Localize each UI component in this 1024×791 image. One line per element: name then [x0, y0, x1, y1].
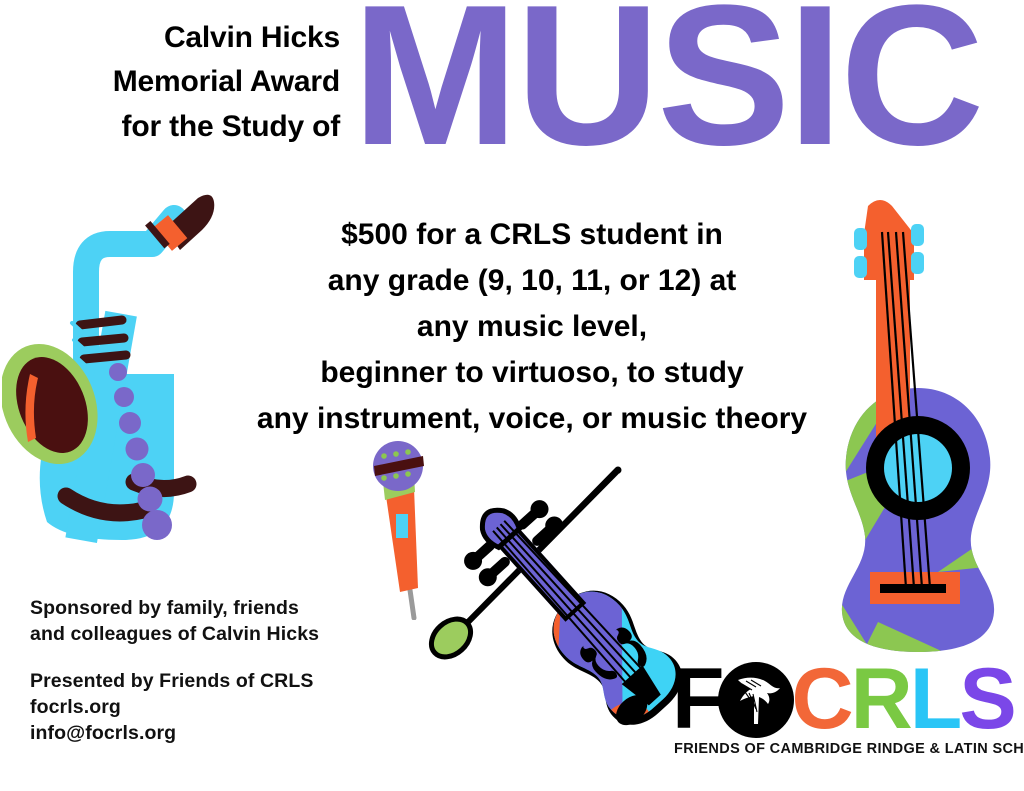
description-line-2: any grade (9, 10, 11, or 12) at [182, 258, 882, 304]
logo-letter-l: L [910, 662, 960, 738]
sponsor-contact-block: Sponsored by family, friends and colleag… [30, 596, 319, 747]
description-line-1: $500 for a CRLS student in [182, 212, 882, 258]
poster-canvas: Calvin Hicks Memorial Award for the Stud… [0, 0, 1024, 791]
logo-letter-o-falcon-icon [718, 662, 794, 738]
website-link[interactable]: focrls.org [30, 695, 319, 721]
award-title-line-1: Calvin Hicks [18, 16, 340, 60]
sponsor-line-2: and colleagues of Calvin Hicks [30, 622, 319, 648]
award-description: $500 for a CRLS student in any grade (9,… [182, 212, 882, 441]
logo-letter-r: R [851, 662, 910, 738]
sponsor-spacer [30, 648, 319, 669]
description-line-3: any music level, [182, 304, 882, 350]
award-title-line-2: Memorial Award [18, 60, 340, 104]
award-title: Calvin Hicks Memorial Award for the Stud… [18, 16, 340, 149]
presented-by-line: Presented by Friends of CRLS [30, 669, 319, 695]
logo-letter-s: S [959, 662, 1013, 738]
description-line-5: any instrument, voice, or music theory [182, 396, 882, 442]
logo-tagline: FRIENDS OF CAMBRIDGE RINDGE & LATIN SCHO… [674, 741, 1024, 757]
sponsor-line-1: Sponsored by family, friends [30, 596, 319, 622]
logo-letter-f: F [672, 662, 722, 738]
focrls-wordmark: F C R L S [672, 662, 1014, 736]
music-headline: MUSIC [352, 0, 981, 176]
focrls-logo[interactable]: F C R L S [672, 662, 1012, 767]
award-title-line-3: for the Study of [18, 105, 340, 149]
description-line-4: beginner to virtuoso, to study [182, 350, 882, 396]
logo-letter-c: C [792, 662, 851, 738]
email-link[interactable]: info@focrls.org [30, 721, 319, 747]
